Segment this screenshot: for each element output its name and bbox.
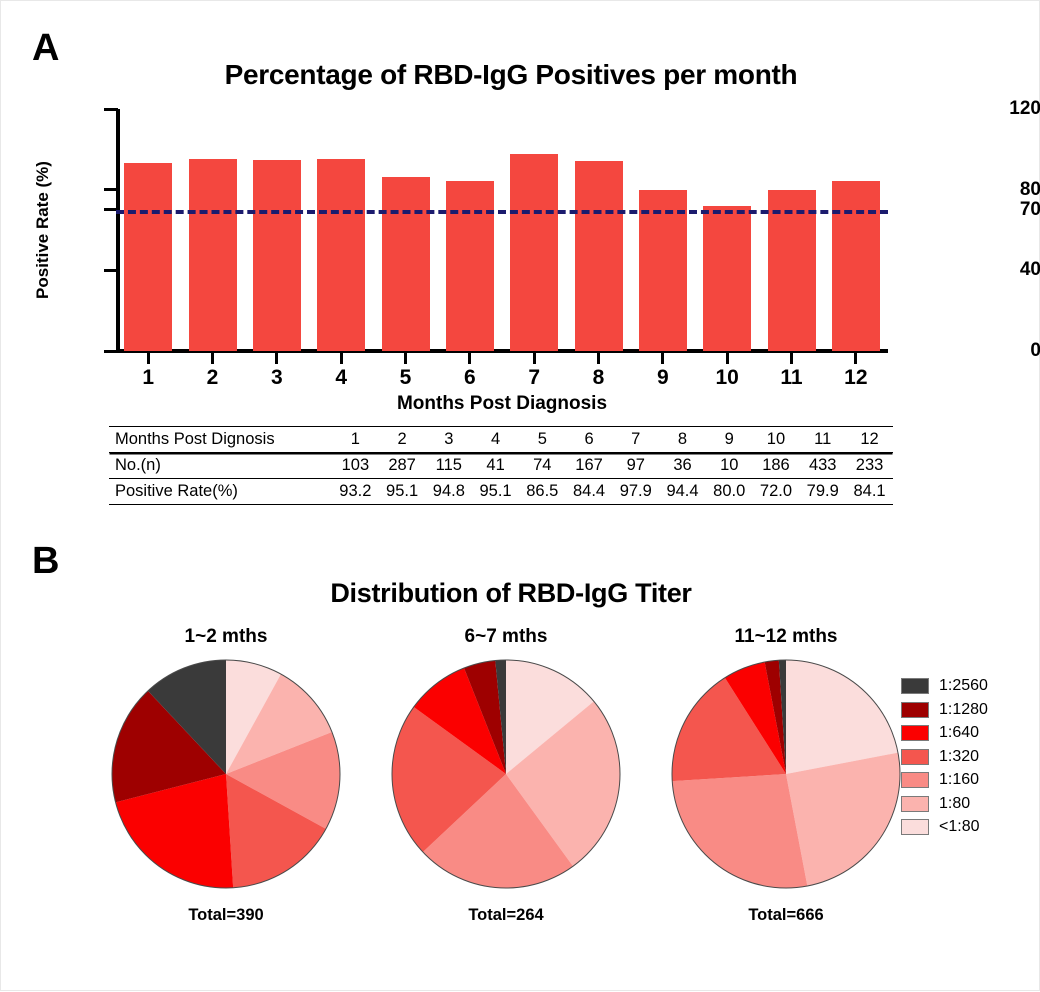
bar-month-8 [575, 161, 623, 351]
legend-swatch-icon [901, 749, 929, 765]
legend-row-1160: 1:160 [901, 771, 988, 789]
bar-chart-title: Percentage of RBD-IgG Positives per mont… [131, 59, 891, 91]
legend-label: 1:320 [939, 748, 979, 766]
panel-b-letter: B [32, 542, 58, 580]
x-tick-5 [404, 353, 407, 364]
x-tick-3 [275, 353, 278, 364]
pie-total-3: Total=666 [656, 906, 916, 925]
y-tick-label-0: 0 [943, 340, 1040, 362]
panel-b: B Distribution of RBD-IgG Titer 1~2 mths… [1, 531, 1040, 992]
table-cell-counts-2: 287 [379, 453, 426, 479]
x-tick-8 [597, 353, 600, 364]
table-cell-counts-3: 115 [425, 453, 472, 479]
x-tick-label-2: 2 [207, 366, 219, 390]
table-row-header-counts: No.(n) [109, 453, 332, 479]
y-tick-label-70: 70 [943, 199, 1040, 221]
table-cell-months-1: 1 [332, 427, 379, 453]
pie-total-1: Total=390 [96, 906, 356, 925]
table-row: Months Post Dignosis123456789101112 [109, 427, 893, 453]
x-tick-2 [211, 353, 214, 364]
legend-swatch-icon [901, 772, 929, 788]
bar-month-6 [446, 181, 494, 351]
table-cell-months-10: 10 [753, 427, 800, 453]
pie-svg-wrap [96, 656, 356, 892]
x-tick-7 [533, 353, 536, 364]
legend-row-180: <1:80 [901, 818, 988, 836]
table-cell-months-7: 7 [612, 427, 659, 453]
pie-panel-3: 11~12 mthsTotal=666 [656, 626, 916, 925]
x-tick-label-3: 3 [271, 366, 283, 390]
x-tick-label-7: 7 [528, 366, 540, 390]
pie-chart-title: Distribution of RBD-IgG Titer [131, 578, 891, 609]
bar-month-4 [317, 159, 365, 351]
x-tick-label-9: 9 [657, 366, 669, 390]
legend-swatch-icon [901, 702, 929, 718]
legend-swatch-icon [901, 819, 929, 835]
pie-caption-1: 1~2 mths [96, 626, 356, 648]
bar-month-12 [832, 181, 880, 351]
table-cell-counts-6: 167 [566, 453, 613, 479]
x-axis-label: Months Post Diagnosis [116, 393, 888, 415]
table-cell-positive-rates-6: 84.4 [566, 479, 613, 505]
table-cell-positive-rates-2: 95.1 [379, 479, 426, 505]
y-tick-label-80: 80 [943, 179, 1040, 201]
bar-month-11 [768, 190, 816, 351]
legend-row-1320: 1:320 [901, 748, 988, 766]
bar-month-10 [703, 206, 751, 351]
table-cell-positive-rates-12: 84.1 [846, 479, 893, 505]
y-axis-label-wrap: Positive Rate (%) [31, 109, 55, 351]
bar-month-7 [510, 154, 558, 351]
pie-legend: 1:25601:12801:6401:3201:1601:80<1:80 [901, 677, 988, 842]
pie-caption-3: 11~12 mths [656, 626, 916, 648]
table-cell-counts-11: 433 [799, 453, 846, 479]
legend-row-180: 1:80 [901, 795, 988, 813]
figure-container: A Percentage of RBD-IgG Positives per mo… [0, 0, 1040, 991]
x-tick-label-4: 4 [335, 366, 347, 390]
table-cell-counts-5: 74 [519, 453, 566, 479]
legend-swatch-icon [901, 796, 929, 812]
legend-row-12560: 1:2560 [901, 677, 988, 695]
table-cell-positive-rates-9: 80.0 [706, 479, 753, 505]
table-cell-months-3: 3 [425, 427, 472, 453]
x-tick-label-6: 6 [464, 366, 476, 390]
pie-svg-wrap [656, 656, 916, 892]
pie-svg-wrap [376, 656, 636, 892]
bar-month-1 [124, 163, 172, 351]
x-tick-label-8: 8 [593, 366, 605, 390]
legend-swatch-icon [901, 678, 929, 694]
table-cell-counts-10: 186 [753, 453, 800, 479]
y-axis-label: Positive Rate (%) [33, 161, 53, 299]
table-row-header-months: Months Post Dignosis [109, 427, 332, 453]
legend-row-1640: 1:640 [901, 724, 988, 742]
x-tick-label-5: 5 [400, 366, 412, 390]
x-tick-4 [340, 353, 343, 364]
x-tick-1 [147, 353, 150, 364]
table-cell-months-4: 4 [472, 427, 519, 453]
pie-chart-1 [108, 656, 344, 892]
panel-a: A Percentage of RBD-IgG Positives per mo… [1, 1, 1040, 531]
table-cell-counts-1: 103 [332, 453, 379, 479]
x-tick-label-11: 11 [780, 366, 802, 390]
table-cell-months-11: 11 [799, 427, 846, 453]
threshold-reference-line [116, 210, 888, 214]
table-cell-months-8: 8 [659, 427, 706, 453]
pie-total-2: Total=264 [376, 906, 636, 925]
x-tick-label-12: 12 [844, 366, 867, 390]
table-cell-months-2: 2 [379, 427, 426, 453]
pie-panel-1: 1~2 mthsTotal=390 [96, 626, 356, 925]
bar-series [116, 109, 888, 351]
legend-label: 1:1280 [939, 701, 988, 719]
table-cell-positive-rates-10: 72.0 [753, 479, 800, 505]
table-cell-counts-9: 10 [706, 453, 753, 479]
x-tick-11 [790, 353, 793, 364]
table-cell-positive-rates-1: 93.2 [332, 479, 379, 505]
table-cell-months-9: 9 [706, 427, 753, 453]
pie-slice-1160 [672, 774, 807, 888]
bar-month-9 [639, 190, 687, 351]
y-tick-label-120: 120 [943, 98, 1040, 120]
pie-panel-2: 6~7 mthsTotal=264 [376, 626, 636, 925]
table-row: Positive Rate(%)93.295.194.895.186.584.4… [109, 479, 893, 505]
data-table: Months Post Dignosis123456789101112No.(n… [109, 426, 893, 505]
table-row-header-positive-rates: Positive Rate(%) [109, 479, 332, 505]
table-cell-positive-rates-11: 79.9 [799, 479, 846, 505]
table-cell-months-5: 5 [519, 427, 566, 453]
legend-label: 1:2560 [939, 677, 988, 695]
pie-caption-2: 6~7 mths [376, 626, 636, 648]
table-cell-positive-rates-8: 94.4 [659, 479, 706, 505]
y-tick-label-40: 40 [943, 259, 1040, 281]
legend-label: <1:80 [939, 818, 979, 836]
table-cell-counts-4: 41 [472, 453, 519, 479]
bar-month-3 [253, 160, 301, 351]
table-cell-positive-rates-5: 86.5 [519, 479, 566, 505]
legend-row-11280: 1:1280 [901, 701, 988, 719]
table-cell-counts-7: 97 [612, 453, 659, 479]
x-tick-9 [661, 353, 664, 364]
legend-swatch-icon [901, 725, 929, 741]
x-tick-label-1: 1 [142, 366, 154, 390]
legend-label: 1:160 [939, 771, 979, 789]
table-cell-months-6: 6 [566, 427, 613, 453]
legend-label: 1:640 [939, 724, 979, 742]
legend-label: 1:80 [939, 795, 970, 813]
table-cell-positive-rates-4: 95.1 [472, 479, 519, 505]
pie-chart-2 [388, 656, 624, 892]
x-tick-12 [854, 353, 857, 364]
table-cell-positive-rates-7: 97.9 [612, 479, 659, 505]
x-tick-6 [468, 353, 471, 364]
bar-month-5 [382, 177, 430, 351]
table-row: No.(n)1032871154174167973610186433233 [109, 453, 893, 479]
panel-a-letter: A [32, 29, 58, 67]
table-cell-counts-12: 233 [846, 453, 893, 479]
table-cell-months-12: 12 [846, 427, 893, 453]
pie-chart-3 [668, 656, 904, 892]
x-tick-label-10: 10 [715, 366, 738, 390]
bar-month-2 [189, 159, 237, 351]
table-cell-counts-8: 36 [659, 453, 706, 479]
table-cell-positive-rates-3: 94.8 [425, 479, 472, 505]
x-tick-10 [726, 353, 729, 364]
